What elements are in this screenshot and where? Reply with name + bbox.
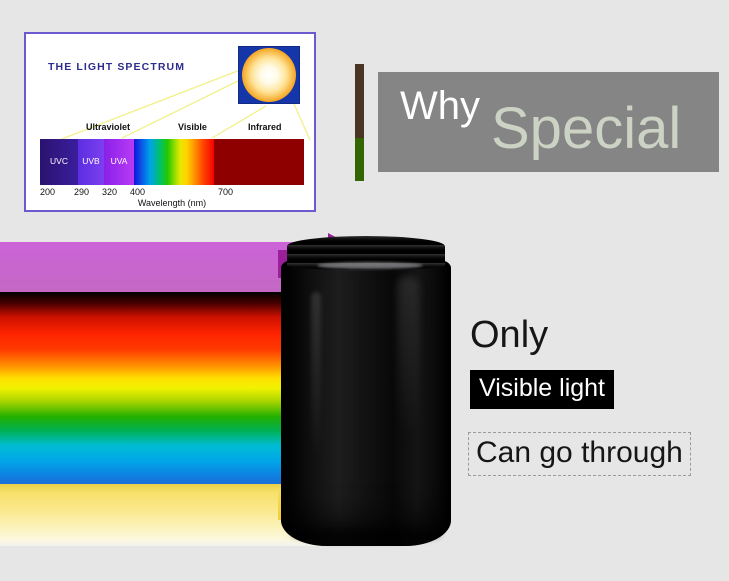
band-label-ultraviolet: Ultraviolet [86, 122, 130, 132]
title-banner: Why Special [378, 72, 719, 172]
sun-glow [242, 48, 296, 102]
sun-icon [238, 46, 300, 104]
spectrum-segment-infrared [214, 139, 304, 185]
jar-body [281, 260, 451, 546]
title-word-why: Why [400, 86, 480, 126]
spectrum-segment-uvb: UVB [78, 139, 104, 185]
callout-line-can-go-through: Can go through [468, 432, 691, 476]
tick-400: 400 [130, 187, 145, 197]
tick-200: 200 [40, 187, 55, 197]
spectrum-strip: UVC UVB UVA [40, 139, 304, 185]
tick-320: 320 [102, 187, 117, 197]
jar-highlight-right [397, 276, 419, 486]
spectrum-segment-uva-label: UVA [104, 156, 134, 166]
jar-rim-highlight [317, 262, 423, 269]
title-color-rule [355, 64, 364, 181]
band-label-infrared: Infrared [248, 122, 282, 132]
tick-290: 290 [74, 187, 89, 197]
rule-segment-green [355, 138, 364, 181]
spectrum-segment-uvc-label: UVC [40, 156, 78, 166]
spectrum-segment-uvb-label: UVB [78, 156, 104, 166]
spectrum-segment-visible [134, 139, 214, 185]
tick-700: 700 [218, 187, 233, 197]
spectrum-band-labels: Ultraviolet Visible Infrared [26, 122, 316, 136]
light-spectrum-card: THE LIGHT SPECTRUM Ultraviolet Visible I… [24, 32, 316, 212]
black-jar [281, 236, 451, 546]
callout-line-only: Only [470, 316, 548, 354]
band-label-visible: Visible [178, 122, 207, 132]
spectrum-segment-uvc: UVC [40, 139, 78, 185]
callout-line-visible-light: Visible light [470, 370, 614, 409]
jar-base-shadow [291, 528, 441, 542]
spectrum-segment-uva: UVA [104, 139, 134, 185]
title-word-special: Special [491, 100, 681, 158]
jar-highlight-left [311, 292, 321, 462]
slide-canvas: THE LIGHT SPECTRUM Ultraviolet Visible I… [0, 0, 729, 581]
spectrum-card-title: THE LIGHT SPECTRUM [48, 61, 185, 73]
spectrum-axis-caption: Wavelength (nm) [26, 198, 316, 208]
rule-segment-brown [355, 64, 364, 138]
